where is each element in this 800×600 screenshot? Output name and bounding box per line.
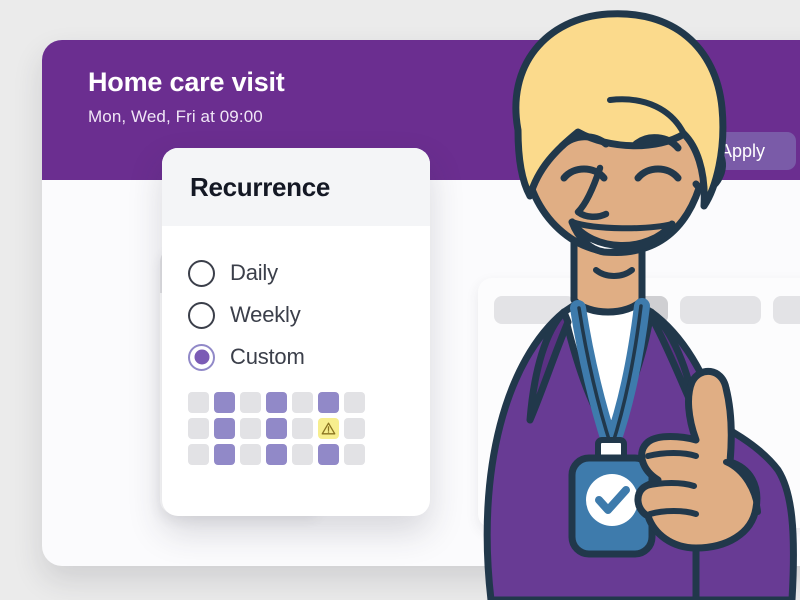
day-cell-inactive[interactable] [344, 392, 365, 413]
day-cell-inactive[interactable] [292, 392, 313, 413]
skeleton-chip [680, 296, 761, 324]
day-cell-active[interactable] [318, 392, 339, 413]
page-subtitle: Mon, Wed, Fri at 09:00 [88, 107, 800, 127]
radio-option-weekly[interactable]: Weekly [188, 294, 430, 336]
day-cell-active[interactable] [214, 418, 235, 439]
radio-label-custom: Custom [230, 344, 305, 370]
page-title: Home care visit [88, 68, 800, 98]
radio-option-custom[interactable]: Custom [188, 336, 430, 378]
day-cell-inactive[interactable] [292, 418, 313, 439]
day-cell-inactive[interactable] [188, 392, 209, 413]
screenshot-stage: Home care visit Mon, Wed, Fri at 09:00 A… [0, 0, 800, 600]
warning-triangle-icon [321, 421, 336, 436]
skeleton-chip [587, 296, 668, 324]
day-cell-inactive[interactable] [240, 418, 261, 439]
day-cell-inactive[interactable] [188, 418, 209, 439]
day-cell-active[interactable] [318, 444, 339, 465]
recurrence-dialog-body: Daily Weekly Custom [162, 226, 430, 465]
radio-button-weekly[interactable] [188, 302, 215, 329]
day-cell-active[interactable] [214, 392, 235, 413]
skeleton-chip [494, 296, 575, 324]
day-cell-inactive[interactable] [344, 444, 365, 465]
day-cell-inactive[interactable] [344, 418, 365, 439]
day-cell-active[interactable] [266, 444, 287, 465]
radio-label-weekly: Weekly [230, 302, 301, 328]
day-cell-active[interactable] [266, 392, 287, 413]
day-cell-inactive[interactable] [188, 444, 209, 465]
recurrence-day-grid[interactable] [188, 392, 430, 465]
background-panel-right [478, 278, 800, 528]
radio-button-custom[interactable] [188, 344, 215, 371]
apply-button-label: Apply [720, 141, 765, 162]
skeleton-chip [773, 296, 800, 324]
recurrence-dialog-title: Recurrence [190, 172, 330, 203]
apply-button[interactable]: Apply [676, 132, 796, 170]
day-cell-warning[interactable] [318, 418, 339, 439]
day-cell-inactive[interactable] [240, 392, 261, 413]
radio-button-daily[interactable] [188, 260, 215, 287]
day-cell-inactive[interactable] [292, 444, 313, 465]
radio-option-daily[interactable]: Daily [188, 252, 430, 294]
day-cell-active[interactable] [266, 418, 287, 439]
radio-label-daily: Daily [230, 260, 278, 286]
recurrence-dialog: Recurrence Daily Weekly Custom [162, 148, 430, 516]
day-cell-active[interactable] [214, 444, 235, 465]
day-cell-inactive[interactable] [240, 444, 261, 465]
recurrence-dialog-header: Recurrence [162, 148, 430, 226]
check-icon [694, 143, 711, 160]
